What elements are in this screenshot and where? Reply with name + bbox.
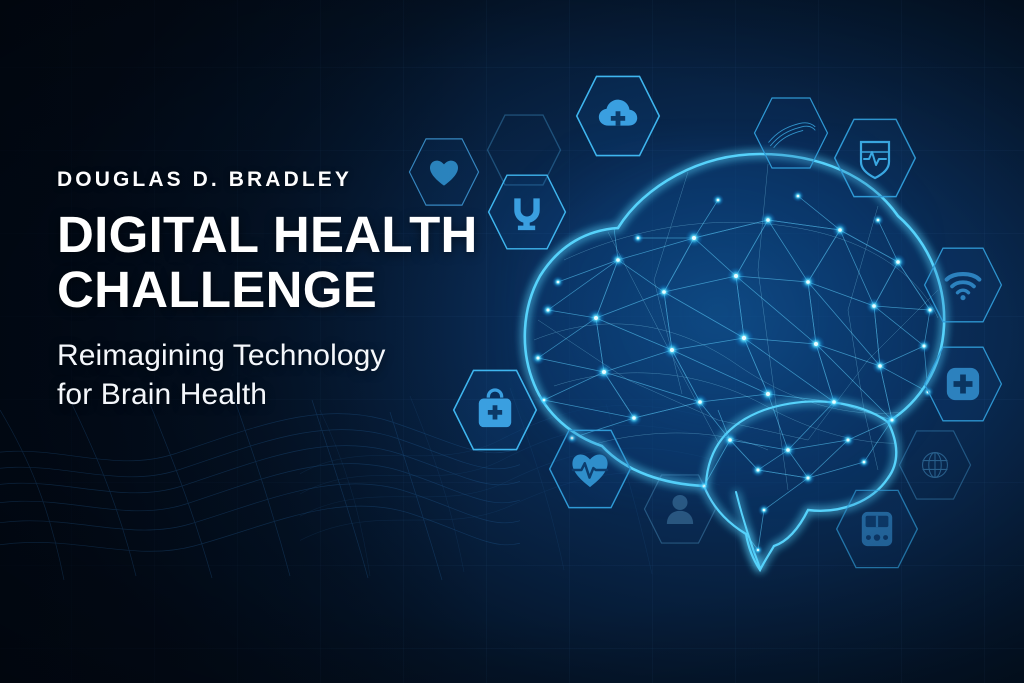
title-block: DOUGLAS D. BRADLEY DIGITAL HEALTH CHALLE… [57, 168, 497, 414]
subtitle-line-2: for Brain Health [57, 376, 497, 414]
subtitle-line-1: Reimagining Technology [57, 337, 497, 375]
author-name: DOUGLAS D. BRADLEY [57, 168, 497, 191]
page-title: DIGITAL HEALTH CHALLENGE [57, 208, 497, 317]
subtitle: Reimagining Technology for Brain Health [57, 337, 497, 414]
poster-canvas: DOUGLAS D. BRADLEY DIGITAL HEALTH CHALLE… [0, 0, 1024, 683]
headline-line-2: CHALLENGE [57, 263, 497, 318]
headline-line-1: DIGITAL HEALTH [57, 208, 497, 263]
